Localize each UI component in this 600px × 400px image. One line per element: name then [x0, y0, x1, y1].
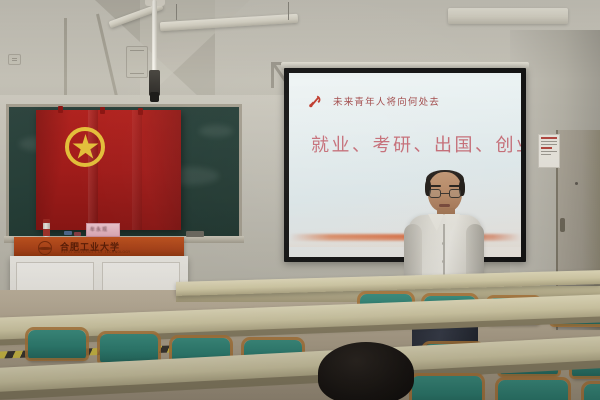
- projector-lens: [150, 92, 159, 102]
- presenter-mouth: [439, 204, 450, 207]
- marker-pen: [64, 231, 72, 235]
- poster-line: [541, 147, 552, 149]
- poster-line: [541, 144, 557, 145]
- glasses-lens-right: [449, 189, 461, 198]
- chair[interactable]: [498, 380, 568, 400]
- presenter-brow: [430, 185, 441, 187]
- slide-heading-text: 未来青年人将向何处去: [333, 94, 440, 108]
- communist-youth-league-flag: [36, 110, 181, 230]
- chalk-smudge: [199, 125, 233, 137]
- university-logo-icon: [38, 241, 52, 255]
- door-handle[interactable]: [560, 218, 565, 232]
- chair[interactable]: [28, 330, 86, 360]
- cpc-hammer-sickle-emblem: [307, 93, 324, 109]
- fluorescent-light-3: [448, 8, 568, 24]
- shirt-button: [442, 260, 445, 263]
- poster-line: [541, 141, 557, 142]
- slide-heading-row: 未来青年人将向何处去: [307, 93, 440, 109]
- light-wire-1: [176, 4, 177, 20]
- wall-notice: [538, 134, 560, 168]
- flag-clip: [58, 106, 63, 113]
- door-peephole: [575, 182, 578, 185]
- wall-outlet: [8, 54, 21, 65]
- light-wire-2: [288, 2, 289, 20]
- marker-pen: [74, 232, 81, 236]
- poster-line: [541, 154, 551, 155]
- presenter-brow: [449, 185, 460, 187]
- bottle-cap: [43, 219, 50, 223]
- student-hair: [318, 342, 414, 400]
- poster-line: [541, 151, 557, 152]
- glasses-lens-left: [429, 189, 441, 198]
- blackboard-eraser: [186, 231, 204, 237]
- speaker-name-card-text: 牟永观: [90, 226, 108, 233]
- flag-clip: [100, 107, 105, 114]
- flag-clip: [138, 108, 143, 115]
- bottle-label: [43, 229, 50, 236]
- chair[interactable]: [412, 376, 482, 400]
- chair[interactable]: [584, 384, 600, 400]
- flag-fold: [132, 110, 142, 230]
- university-name-en: HEFEI UNIVERSITY OF TECHNOLOGY: [61, 250, 130, 254]
- presenter-glasses: [429, 189, 461, 198]
- ceiling-beam-vertical: [64, 18, 67, 98]
- poster-line: [541, 137, 557, 139]
- wall-vent: [126, 46, 148, 78]
- slide-main-text: 就业、考研、出国、创业。。。: [311, 131, 521, 157]
- student-foreground: [318, 342, 414, 400]
- projector-pole: [152, 0, 157, 76]
- shirt-button: [442, 242, 445, 245]
- classroom-photo: 未来青年人将向何处去 就业、考研、出国、创业。。。 牟永观 合肥工业大学 HEF…: [0, 0, 600, 400]
- glasses-bridge: [441, 193, 449, 194]
